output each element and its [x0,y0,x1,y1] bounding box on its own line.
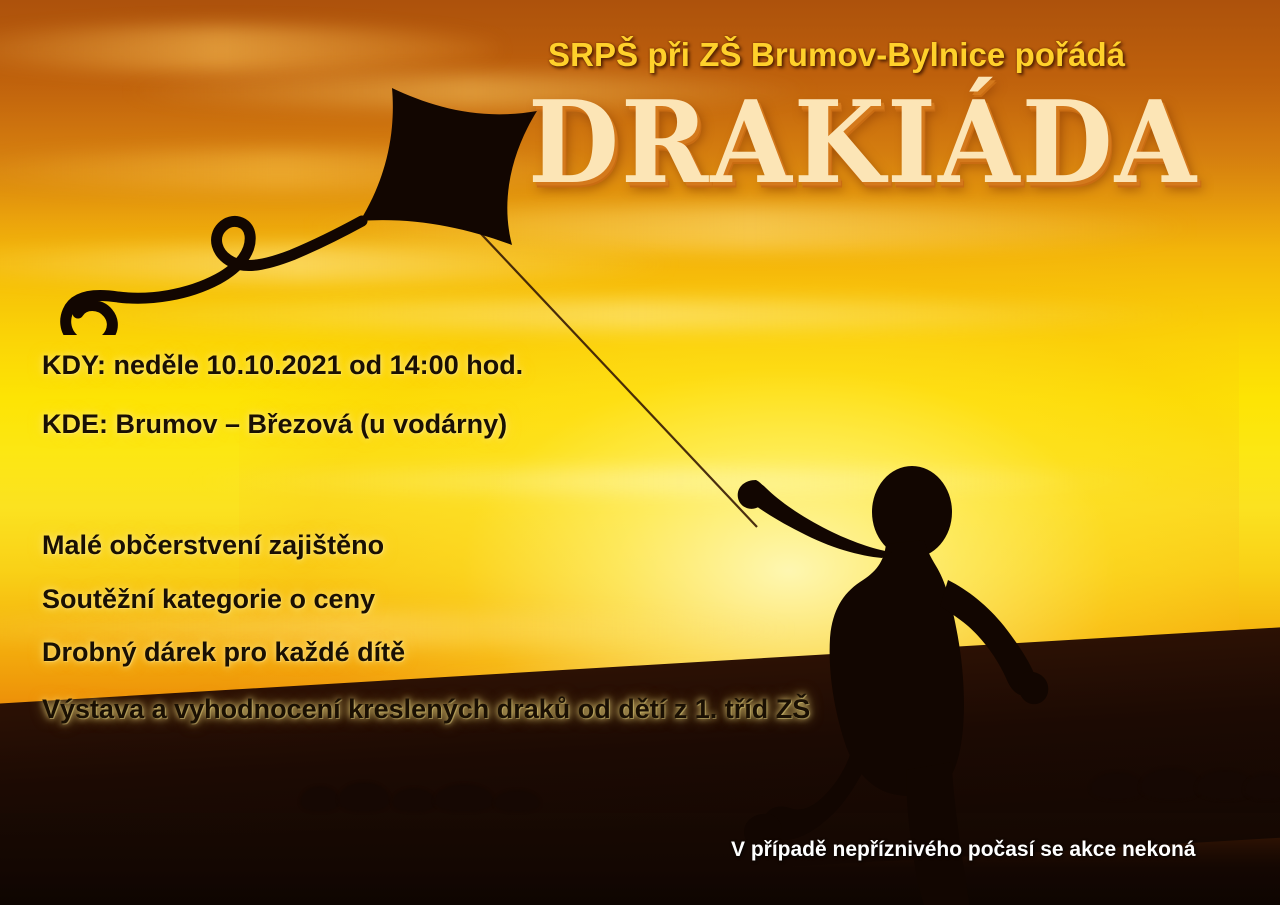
poster-canvas: SRPŠ při ZŠ Brumov-Bylnice pořádá DRAKIÁ… [0,0,1280,905]
feature-exhibition: Výstava a vyhodnocení kreslených draků o… [42,694,810,725]
feature-refreshments: Malé občerstvení zajištěno [42,530,384,561]
feature-gift: Drobný dárek pro každé dítě [42,637,405,668]
detail-when: KDY: neděle 10.10.2021 od 14:00 hod. [42,350,523,381]
organizer-headline: SRPŠ při ZŠ Brumov-Bylnice pořádá [548,36,1248,74]
page-title: DRAKIÁDA [528,86,1198,199]
feature-categories: Soutěžní kategorie o ceny [42,584,375,615]
weather-footnote: V případě nepříznivého počasí se akce ne… [731,838,1196,862]
detail-where: KDE: Brumov – Březová (u vodárny) [42,409,507,440]
